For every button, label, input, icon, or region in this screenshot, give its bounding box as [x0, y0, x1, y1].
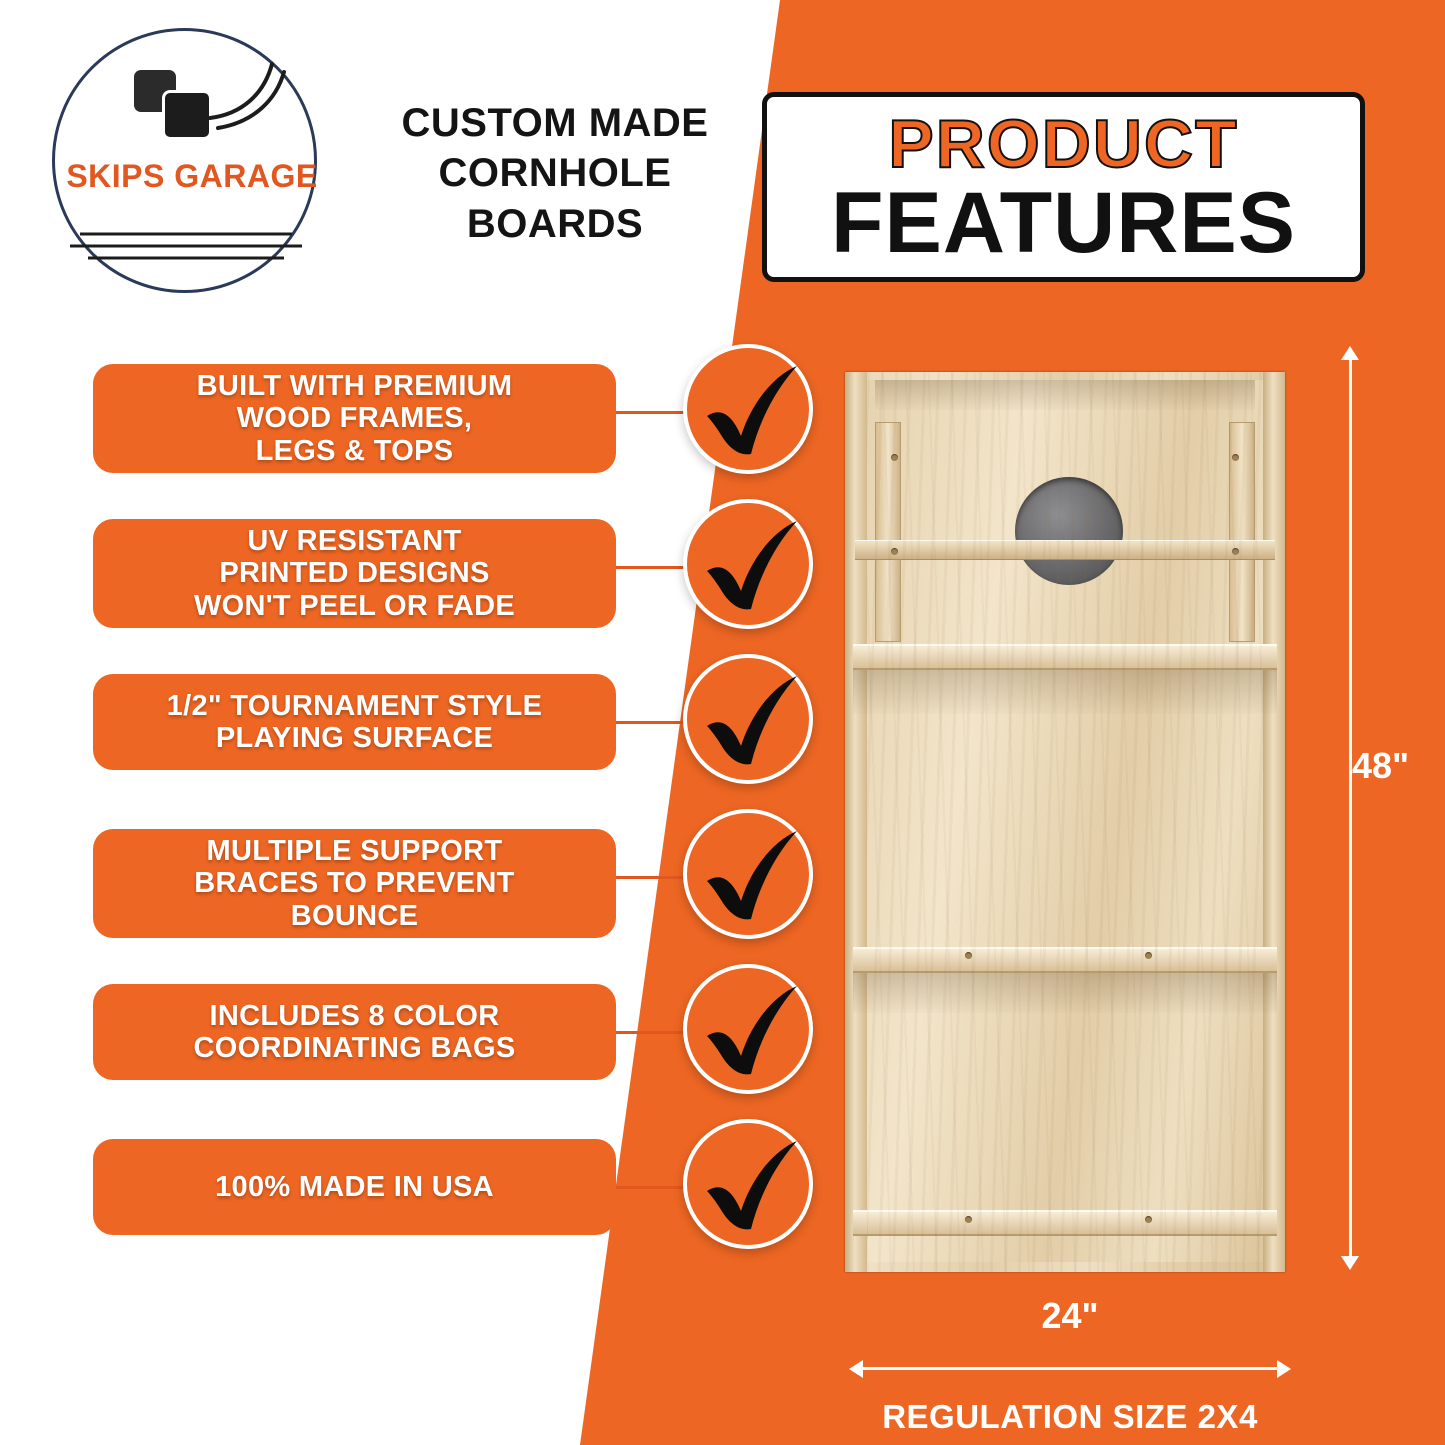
- feature-pill: 1/2" TOURNAMENT STYLE PLAYING SURFACE: [93, 674, 616, 770]
- board-screw: [1145, 952, 1152, 959]
- board-screw: [965, 1216, 972, 1223]
- arrow-head-left-icon: [849, 1360, 863, 1378]
- page-title-line-3: BOARDS: [350, 199, 760, 249]
- feature-text: 100% MADE IN USA: [215, 1171, 494, 1203]
- check-mark-icon: [683, 654, 813, 784]
- check-mark-icon: [683, 499, 813, 629]
- board-screw: [1232, 548, 1239, 555]
- board-screw: [965, 952, 972, 959]
- height-dimension-arrow: [1335, 352, 1365, 1264]
- height-dimension-label: 48": [1352, 745, 1409, 787]
- board-shadow-upper: [853, 670, 1277, 714]
- infographic-page: SKIPS GARAGE CUSTOM MADE CORNHOLE BOARDS…: [0, 0, 1445, 1445]
- board-cross-support-upper: [853, 644, 1277, 670]
- check-mark-icon: [683, 1119, 813, 1249]
- product-features-badge: PRODUCT FEATURES: [762, 92, 1365, 282]
- feature-pill: 100% MADE IN USA: [93, 1139, 616, 1235]
- arrow-head-right-icon: [1277, 1360, 1291, 1378]
- feature-row-playing-surface: 1/2" TOURNAMENT STYLE PLAYING SURFACE: [0, 662, 840, 817]
- feature-text: INCLUDES 8 COLOR COORDINATING BAGS: [194, 1000, 516, 1065]
- feature-row-uv-resistant: UV RESISTANT PRINTED DESIGNS WON'T PEEL …: [0, 507, 840, 662]
- page-title: CUSTOM MADE CORNHOLE BOARDS: [350, 98, 760, 249]
- cornhole-hole: [1015, 477, 1123, 585]
- board-frame-right-rail: [1263, 372, 1285, 1272]
- brand-logo: SKIPS GARAGE: [22, 18, 332, 308]
- board-brace-top: [855, 540, 1275, 560]
- board-cross-support-middle: [853, 947, 1277, 973]
- motion-lines-icon: [202, 58, 292, 138]
- product-photo-cornhole-board: [845, 372, 1285, 1272]
- feature-pill: INCLUDES 8 COLOR COORDINATING BAGS: [93, 984, 616, 1080]
- page-title-line-2: CORNHOLE: [350, 148, 760, 198]
- feature-row-made-in-usa: 100% MADE IN USA: [0, 1127, 840, 1282]
- logo-wordmark: SKIPS GARAGE: [22, 158, 362, 195]
- width-dimension-arrow: [855, 1358, 1285, 1380]
- check-mark-icon: [683, 964, 813, 1094]
- feature-pill: UV RESISTANT PRINTED DESIGNS WON'T PEEL …: [93, 519, 616, 628]
- badge-line-product: PRODUCT: [888, 110, 1238, 178]
- feature-pill: MULTIPLE SUPPORT BRACES TO PREVENT BOUNC…: [93, 829, 616, 938]
- board-top-shadow: [875, 380, 1255, 410]
- feature-row-bags-included: INCLUDES 8 COLOR COORDINATING BAGS: [0, 972, 840, 1127]
- feature-row-support-braces: MULTIPLE SUPPORT BRACES TO PREVENT BOUNC…: [0, 817, 840, 972]
- feature-pill: BUILT WITH PREMIUM WOOD FRAMES, LEGS & T…: [93, 364, 616, 473]
- logo-underline-rules: [70, 228, 302, 270]
- feature-text: UV RESISTANT PRINTED DESIGNS WON'T PEEL …: [194, 525, 515, 622]
- dimension-line-horizontal: [861, 1367, 1279, 1370]
- width-dimension-label: 24": [855, 1295, 1285, 1337]
- feature-list: BUILT WITH PREMIUM WOOD FRAMES, LEGS & T…: [0, 352, 840, 1282]
- board-shadow-middle: [853, 973, 1277, 1013]
- board-screw: [1145, 1216, 1152, 1223]
- board-screw: [1232, 454, 1239, 461]
- feature-text: MULTIPLE SUPPORT BRACES TO PREVENT BOUNC…: [194, 835, 514, 932]
- page-title-line-1: CUSTOM MADE: [350, 98, 760, 148]
- regulation-size-caption: REGULATION SIZE 2X4: [700, 1398, 1440, 1436]
- board-screw: [891, 548, 898, 555]
- arrow-head-up-icon: [1341, 346, 1359, 360]
- dimension-line-vertical: [1349, 358, 1352, 1258]
- check-mark-icon: [683, 344, 813, 474]
- board-frame-left-rail: [845, 372, 867, 1272]
- check-mark-icon: [683, 809, 813, 939]
- feature-text: 1/2" TOURNAMENT STYLE PLAYING SURFACE: [167, 690, 543, 755]
- badge-line-features: FEATURES: [831, 180, 1296, 268]
- feature-text: BUILT WITH PREMIUM WOOD FRAMES, LEGS & T…: [197, 370, 513, 467]
- board-screw: [891, 454, 898, 461]
- arrow-head-down-icon: [1341, 1256, 1359, 1270]
- feature-row-premium-wood: BUILT WITH PREMIUM WOOD FRAMES, LEGS & T…: [0, 352, 840, 507]
- board-bottom-rail: [853, 1210, 1277, 1236]
